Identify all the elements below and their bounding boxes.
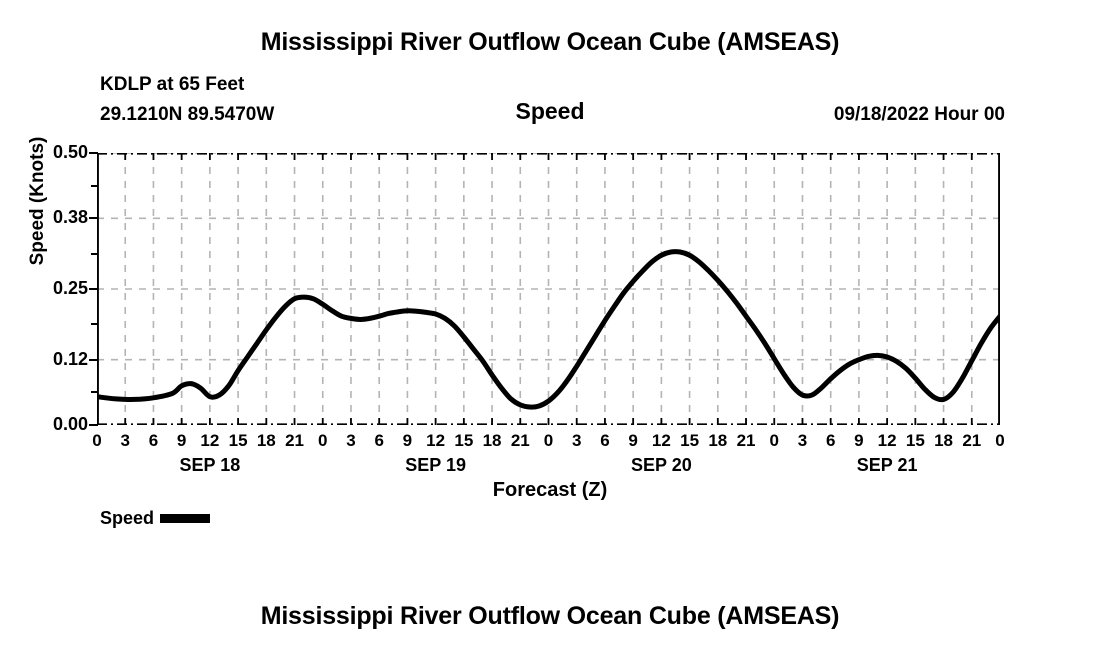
legend-label: Speed: [100, 508, 154, 529]
x-day-label: SEP 19: [405, 455, 466, 476]
x-tick-label: 6: [826, 431, 835, 451]
x-tick-label: 0: [318, 431, 327, 451]
y-tick-label: 0.25: [53, 278, 88, 299]
y-tick-label: 0.12: [53, 349, 88, 370]
x-tick-label: 21: [737, 431, 756, 451]
x-tick-label: 18: [257, 431, 276, 451]
x-tick-label: 6: [374, 431, 383, 451]
y-tick-label: 0.00: [53, 414, 88, 435]
x-tick-label: 3: [798, 431, 807, 451]
plot-area: [97, 153, 1000, 425]
x-tick-label: 21: [285, 431, 304, 451]
x-tick-label: 18: [708, 431, 727, 451]
x-tick-label: 18: [934, 431, 953, 451]
x-tick-label: 21: [511, 431, 530, 451]
page-title-bottom: Mississippi River Outflow Ocean Cube (AM…: [0, 602, 1100, 631]
x-tick-label: 9: [628, 431, 637, 451]
x-tick-label: 9: [177, 431, 186, 451]
x-tick-label: 0: [92, 431, 101, 451]
x-tick-label: 12: [200, 431, 219, 451]
station-depth-label: KDLP at 65 Feet: [100, 74, 244, 96]
y-tick-label: 0.38: [53, 207, 88, 228]
x-tick-label: 0: [770, 431, 779, 451]
x-tick-label: 15: [454, 431, 473, 451]
x-tick-label: 15: [906, 431, 925, 451]
x-axis-label: Forecast (Z): [0, 479, 1100, 502]
forecast-datetime-label: 09/18/2022 Hour 00: [834, 104, 1005, 126]
x-tick-label: 12: [878, 431, 897, 451]
y-tick-label: 0.50: [53, 142, 88, 163]
x-tick-label: 3: [346, 431, 355, 451]
speed-line-chart: [97, 153, 1000, 425]
chart-page: Mississippi River Outflow Ocean Cube (AM…: [0, 0, 1100, 650]
x-tick-label: 12: [652, 431, 671, 451]
legend-color-swatch: [160, 514, 210, 523]
x-day-label: SEP 21: [857, 455, 918, 476]
x-tick-label: 3: [120, 431, 129, 451]
y-axis-label: Speed (Knots): [27, 101, 49, 301]
x-tick-label: 3: [572, 431, 581, 451]
x-tick-label: 6: [149, 431, 158, 451]
x-day-label: SEP 20: [631, 455, 692, 476]
x-tick-label: 9: [403, 431, 412, 451]
chart-legend: Speed: [100, 508, 210, 529]
x-tick-label: 15: [229, 431, 248, 451]
x-day-label: SEP 18: [180, 455, 241, 476]
x-tick-label: 6: [600, 431, 609, 451]
x-tick-label: 21: [962, 431, 981, 451]
x-tick-label: 0: [544, 431, 553, 451]
x-tick-label: 12: [426, 431, 445, 451]
x-tick-label: 18: [483, 431, 502, 451]
x-tick-label: 15: [680, 431, 699, 451]
page-title-top: Mississippi River Outflow Ocean Cube (AM…: [0, 28, 1100, 57]
x-tick-label: 0: [995, 431, 1004, 451]
x-tick-label: 9: [854, 431, 863, 451]
